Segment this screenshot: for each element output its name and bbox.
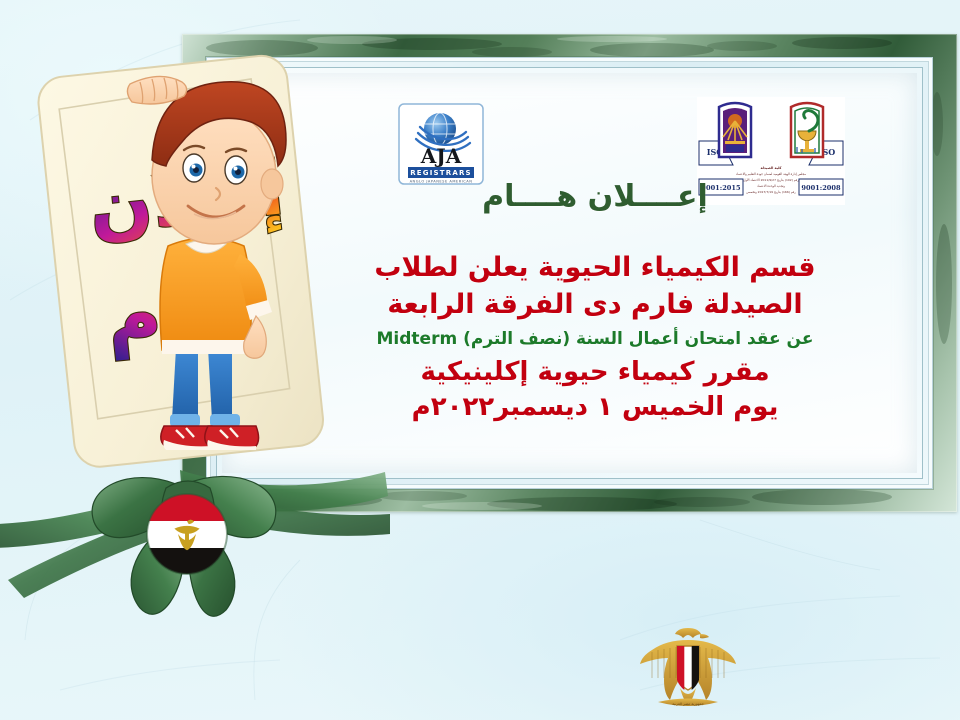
cartoon-boy-mascot: إعلان هام <box>18 48 373 468</box>
mascot-graphic: إعلان هام <box>18 48 373 468</box>
ribbon-graphic <box>0 430 390 670</box>
announcement-headline: إعــــلان هــــام <box>300 180 890 215</box>
announcement-line-3-english: Midterm <box>377 329 458 349</box>
announcement-text-block: إعــــلان هــــام قسم الكيمياء الحيوية ي… <box>300 180 890 426</box>
aja-registrars-logo: AJA REGISTRARS ANGLO JAPANESE AMERICAN <box>398 103 484 185</box>
university-emblem-left <box>719 103 751 157</box>
coat-of-arms-motto: جمهورية مصر العربية <box>672 702 704 706</box>
univ-footer-line1: كلية الصيدلة <box>760 166 782 170</box>
aja-logo-title: AJA <box>420 144 462 168</box>
aja-logo-graphic: AJA REGISTRARS ANGLO JAPANESE AMERICAN <box>398 103 484 185</box>
announcement-line-3-arabic: عن عقد امتحان أعمال السنة (نصف الترم) <box>463 329 813 349</box>
green-ribbon-bow <box>0 430 390 670</box>
announcement-line-2: الصيدلة فارم دى الفرقة الرابعة <box>300 286 890 323</box>
announcement-line-1: قسم الكيمياء الحيوية يعلن لطلاب <box>300 249 890 286</box>
coat-of-arms-graphic: جمهورية مصر العربية <box>636 622 740 714</box>
aja-logo-subtitle: REGISTRARS <box>410 169 472 177</box>
announcement-line-4: مقرر كيمياء حيوية إكلينيكية <box>300 355 890 391</box>
announcement-line-3: عن عقد امتحان أعمال السنة (نصف الترم) Mi… <box>300 327 890 353</box>
announcement-line-5-date: يوم الخميس ١ ديسمبر٢٠٢٢م <box>300 390 890 426</box>
egypt-coat-of-arms: جمهورية مصر العربية <box>636 622 740 714</box>
pharmacy-emblem-right <box>791 103 823 157</box>
announcement-poster: AJA REGISTRARS ANGLO JAPANESE AMERICAN I… <box>0 0 960 720</box>
